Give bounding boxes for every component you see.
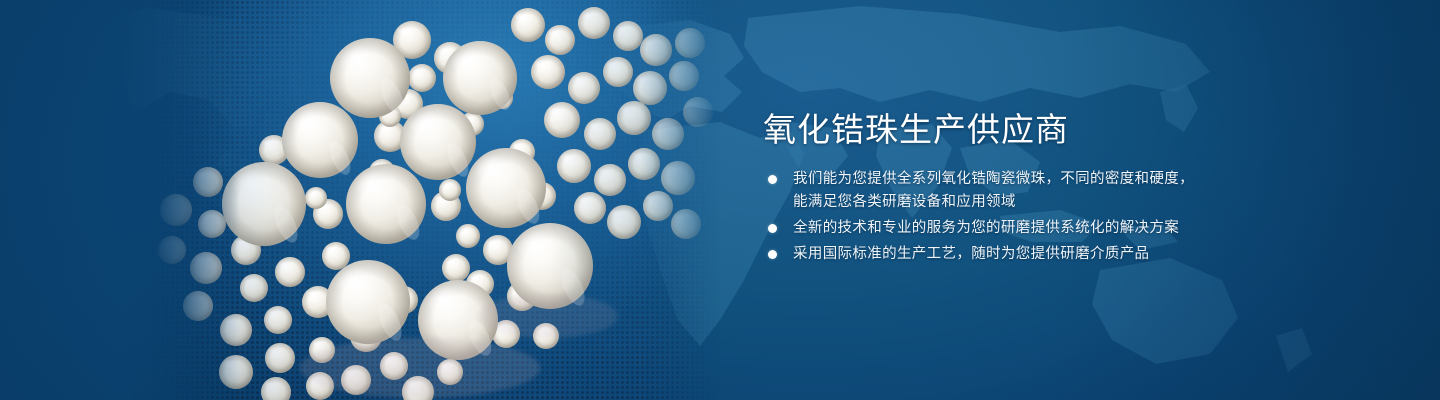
banner-feature-list: 我们能为您提供全系列氧化锆陶瓷微珠，不同的密度和硬度， 能满足您各类研磨设备和应… [763,168,1403,266]
hero-banner: 氧化锆珠生产供应商 我们能为您提供全系列氧化锆陶瓷微珠，不同的密度和硬度， 能满… [0,0,1440,400]
feature-item-3: 采用国际标准的生产工艺，随时为您提供研磨介质产品 [763,243,1403,266]
feature-item-1: 我们能为您提供全系列氧化锆陶瓷微珠，不同的密度和硬度， 能满足您各类研磨设备和应… [763,168,1403,214]
feature-item-2: 全新的技术和专业的服务为您的研磨提供系统化的解决方案 [763,217,1403,240]
feature-item-3-text: 采用国际标准的生产工艺，随时为您提供研磨介质产品 [793,243,1403,266]
feature-item-1-text: 我们能为您提供全系列氧化锆陶瓷微珠，不同的密度和硬度， 能满足您各类研磨设备和应… [793,168,1403,214]
banner-copy: 氧化锆珠生产供应商 我们能为您提供全系列氧化锆陶瓷微珠，不同的密度和硬度， 能满… [763,0,1403,400]
banner-headline: 氧化锆珠生产供应商 [763,110,1069,150]
feature-item-2-text: 全新的技术和专业的服务为您的研磨提供系统化的解决方案 [793,217,1403,240]
bullet-dot-icon [768,224,777,233]
bullet-dot-icon [768,250,777,259]
feature-item-1-line1: 我们能为您提供全系列氧化锆陶瓷微珠，不同的密度和硬度， [793,171,1194,187]
feature-item-1-line2: 能满足您各类研磨设备和应用领域 [793,191,1403,214]
bullet-dot-icon [768,175,777,184]
